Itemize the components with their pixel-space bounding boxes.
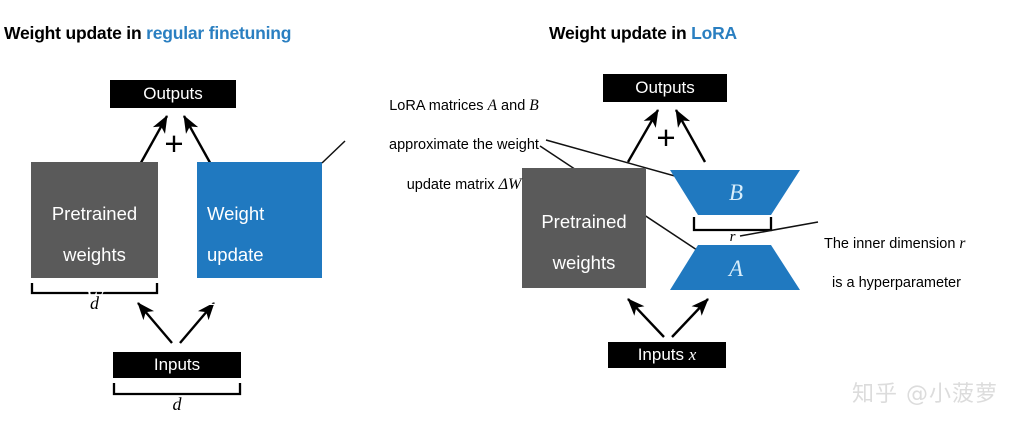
left-arrow-blue-to-outputs	[184, 116, 213, 168]
left-outputs-box-shape	[110, 80, 236, 108]
right-arrow-lora-to-outputs	[676, 110, 705, 162]
right-annotation-line2: is a hyperparameter	[824, 274, 1010, 293]
center-annot-plain2: and	[497, 98, 529, 114]
right-annotation: The inner dimension r is a hyperparamete…	[824, 215, 1010, 312]
right-annot-plain1: The inner dimension	[824, 236, 959, 252]
trapezoid-b-shape	[670, 170, 800, 215]
right-inputs-box-shape	[608, 342, 726, 368]
watermark-label: 知乎 @小菠萝	[852, 376, 998, 408]
right-arrow-inputs-to-a	[672, 299, 708, 337]
center-annot-italic-a: A	[488, 97, 497, 114]
center-annot-italic-dw: ΔW	[499, 176, 522, 193]
left-inputs-box-shape	[113, 352, 241, 378]
right-annot-italic-r: r	[959, 235, 965, 252]
left-bracket-d-weights	[32, 283, 157, 293]
right-arrow-gray-to-outputs	[628, 110, 658, 162]
left-arrow-inputs-to-blue	[180, 303, 214, 343]
center-annot-plain1: LoRA matrices	[389, 98, 487, 114]
right-annotation-line1: The inner dimension r	[824, 234, 1010, 254]
left-update-box-shape	[197, 162, 322, 278]
center-annot-plain4: update matrix	[407, 177, 499, 193]
center-annot-italic-b: B	[529, 97, 538, 114]
left-bracket-d-inputs-label: d	[114, 394, 240, 415]
right-arrow-inputs-to-gray	[628, 299, 664, 337]
diagram-canvas: Weight update in regular finetuning Weig…	[0, 0, 1012, 422]
center-annotation-line3: update matrix ΔW	[376, 174, 552, 195]
left-arrow-gray-to-outputs	[138, 116, 167, 168]
right-outputs-box-shape	[603, 74, 727, 102]
left-bracket-d-inputs	[114, 383, 240, 394]
center-annotation: LoRA matrices A and B approximate the we…	[376, 77, 552, 214]
right-bracket-r-label: r	[694, 229, 771, 246]
left-pretrained-box-shape	[31, 162, 158, 278]
center-annot-leader-left	[322, 141, 345, 163]
center-annotation-line1: LoRA matrices A and B	[376, 96, 552, 116]
left-bracket-d-weights-label: d	[31, 293, 158, 314]
trapezoid-a-shape	[670, 245, 800, 290]
center-annotation-line2: approximate the weight	[376, 136, 552, 155]
